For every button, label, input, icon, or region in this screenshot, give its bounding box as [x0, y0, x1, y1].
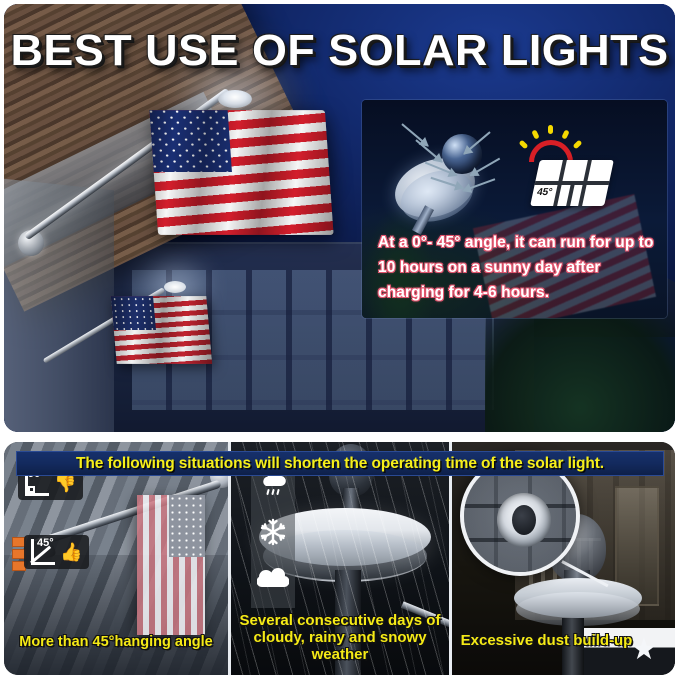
warning-banner: The following situations will shorten th… — [16, 451, 664, 476]
light-ray-arrow — [401, 123, 428, 146]
panel-angle-label: 45° — [536, 187, 553, 198]
solar-light-secondary — [164, 281, 186, 293]
angle-horizontal-leg — [25, 493, 49, 496]
us-flag-secondary — [111, 296, 212, 364]
angle-badge-45: 45° 👍 — [24, 535, 89, 569]
cloud-icon — [257, 566, 289, 592]
sun-icon — [529, 140, 573, 162]
sun-ray — [548, 125, 553, 134]
acute-angle-icon: 45° — [29, 539, 55, 565]
flag-wave-shading — [149, 110, 333, 235]
page-title: BEST USE OF SOLAR LIGHTS — [4, 26, 675, 76]
weather-icon-column — [251, 456, 295, 608]
sun-ray — [573, 140, 583, 150]
situation-panel-bad-weather: Several consecutive days of cloudy, rain… — [228, 442, 452, 675]
snowflake-icon — [258, 517, 288, 547]
flag-wave-shading-secondary — [111, 296, 212, 364]
infographic-root: BEST USE OF SOLAR LIGHTS — [0, 0, 679, 679]
sun-ray — [561, 129, 569, 139]
thumbs-down-icon: 👎 — [54, 474, 76, 492]
us-flag — [137, 495, 205, 635]
situation-caption-dust: Excessive dust build-up — [452, 632, 675, 649]
flag-canton — [169, 495, 205, 557]
solar-light-exploded-icon — [390, 122, 510, 222]
solar-panel-icon: 45° — [530, 160, 614, 206]
sun-solar-panel-icon: 45° — [507, 118, 637, 218]
situations-section: 90° 👎 45° 👍 More than 45°hanging angle — [4, 442, 675, 675]
info-panel: 45° At a 0°- 45° angle, it can run for u… — [362, 100, 667, 318]
hedge-silhouette — [485, 312, 675, 432]
dust-covered-sensor — [497, 493, 551, 547]
info-panel-text: At a 0°- 45° angle, it can run for up to… — [378, 230, 656, 305]
situation-panel-dust: ★ Excessive dust build-up — [452, 442, 675, 675]
warning-banner-text: The following situations will shorten th… — [76, 455, 604, 473]
situation-panel-hanging-angle: 90° 👎 45° 👍 More than 45°hanging angle — [4, 442, 228, 675]
hero-section: BEST USE OF SOLAR LIGHTS — [4, 4, 675, 432]
angle-horizontal-leg — [31, 562, 55, 565]
solar-light-primary — [218, 90, 252, 108]
sun-ray — [531, 129, 539, 139]
situation-caption-hanging-angle: More than 45°hanging angle — [4, 634, 228, 651]
sun-ray — [519, 140, 529, 150]
situations-panels: 90° 👎 45° 👍 More than 45°hanging angle — [4, 442, 675, 675]
situation-caption-bad-weather: Several consecutive days of cloudy, rain… — [231, 612, 449, 663]
thumbs-up-icon: 👍 — [60, 543, 82, 561]
us-flag-primary — [149, 110, 333, 235]
right-angle-marker — [28, 486, 35, 493]
angle-label: 45° — [37, 537, 54, 549]
